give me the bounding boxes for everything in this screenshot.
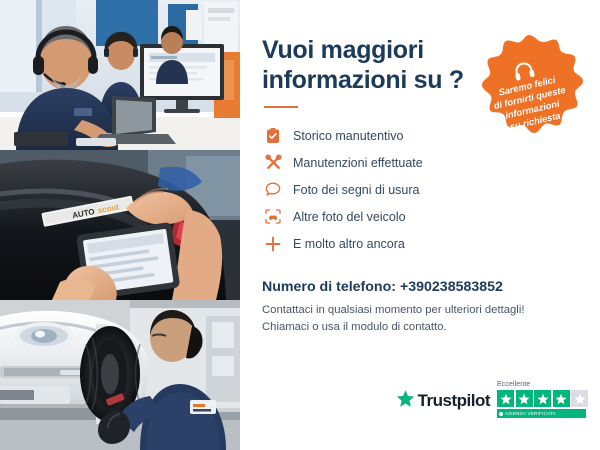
- clipboard-check-icon: [262, 126, 284, 146]
- trustpilot-widget[interactable]: Trustpilot Eccellente: [396, 381, 588, 418]
- promo-banner: AUTO scout: [0, 0, 600, 450]
- vehicle-inspection-tablet-photo: AUTO scout: [0, 150, 240, 300]
- phone-label: Numero di telefono:: [262, 279, 396, 295]
- trustpilot-star-icon: [396, 389, 415, 413]
- star-filled-icon: [534, 390, 551, 407]
- plus-icon: [262, 234, 284, 254]
- phone-block: Numero di telefono: +390238583852 Contat…: [262, 279, 578, 336]
- trustpilot-wordmark: Trustpilot: [418, 391, 490, 411]
- star-filled-icon: [553, 390, 570, 407]
- verified-company-label: AZIENDA VERIFICATA: [505, 411, 556, 416]
- verified-company-badge: AZIENDA VERIFICATA: [497, 409, 586, 418]
- page-title: Vuoi maggiori informazioni su ?: [262, 36, 477, 95]
- contact-subtext: Contattaci in qualsiasi momento per ulte…: [262, 302, 578, 336]
- trustpilot-rating-label: Eccellente: [497, 381, 530, 388]
- sticker-text: Saremo felici di fornirti queste informa…: [490, 73, 572, 136]
- photo-scan-car-icon: [262, 207, 284, 227]
- star-filled-icon: [497, 390, 514, 407]
- contact-subtext-line-2: Chiamaci o usa il modulo di contatto.: [262, 319, 578, 336]
- call-center-agents-photo: [0, 0, 240, 150]
- feature-label: E molto altro ancora: [293, 237, 405, 251]
- feature-label: Altre foto del veicolo: [293, 210, 406, 224]
- star-partial-icon: [571, 390, 588, 407]
- list-item: Foto dei segni di usura: [262, 176, 578, 203]
- callback-sticker-badge: Saremo felici di fornirti queste informa…: [466, 32, 592, 158]
- list-item: Altre foto del veicolo: [262, 203, 578, 230]
- phone-number[interactable]: +390238583852: [400, 279, 503, 295]
- star-filled-icon: [516, 390, 533, 407]
- speech-bubble-icon: [262, 180, 284, 200]
- mechanic-tire-check-photo: [0, 300, 240, 450]
- headline-line-2: informazioni su ?: [262, 66, 477, 96]
- trustpilot-logo: Trustpilot: [396, 389, 490, 418]
- headline-line-1: Vuoi maggiori: [262, 36, 477, 66]
- title-divider: [264, 106, 298, 108]
- trustpilot-stars: [497, 390, 588, 407]
- list-item: E molto altro ancora: [262, 230, 578, 257]
- phone-line: Numero di telefono: +390238583852: [262, 279, 578, 295]
- verified-check-icon: [499, 412, 503, 416]
- feature-label: Foto dei segni di usura: [293, 183, 419, 197]
- feature-label: Storico manutentivo: [293, 129, 403, 143]
- content-panel: Vuoi maggiori informazioni su ? Storico …: [240, 0, 600, 450]
- feature-label: Manutenzioni effettuate: [293, 156, 423, 170]
- contact-subtext-line-1: Contattaci in qualsiasi momento per ulte…: [262, 302, 578, 319]
- wrench-screwdriver-cross-icon: [262, 153, 284, 173]
- photo-column: AUTO scout: [0, 0, 240, 450]
- trustpilot-rating: Eccellente: [497, 381, 588, 418]
